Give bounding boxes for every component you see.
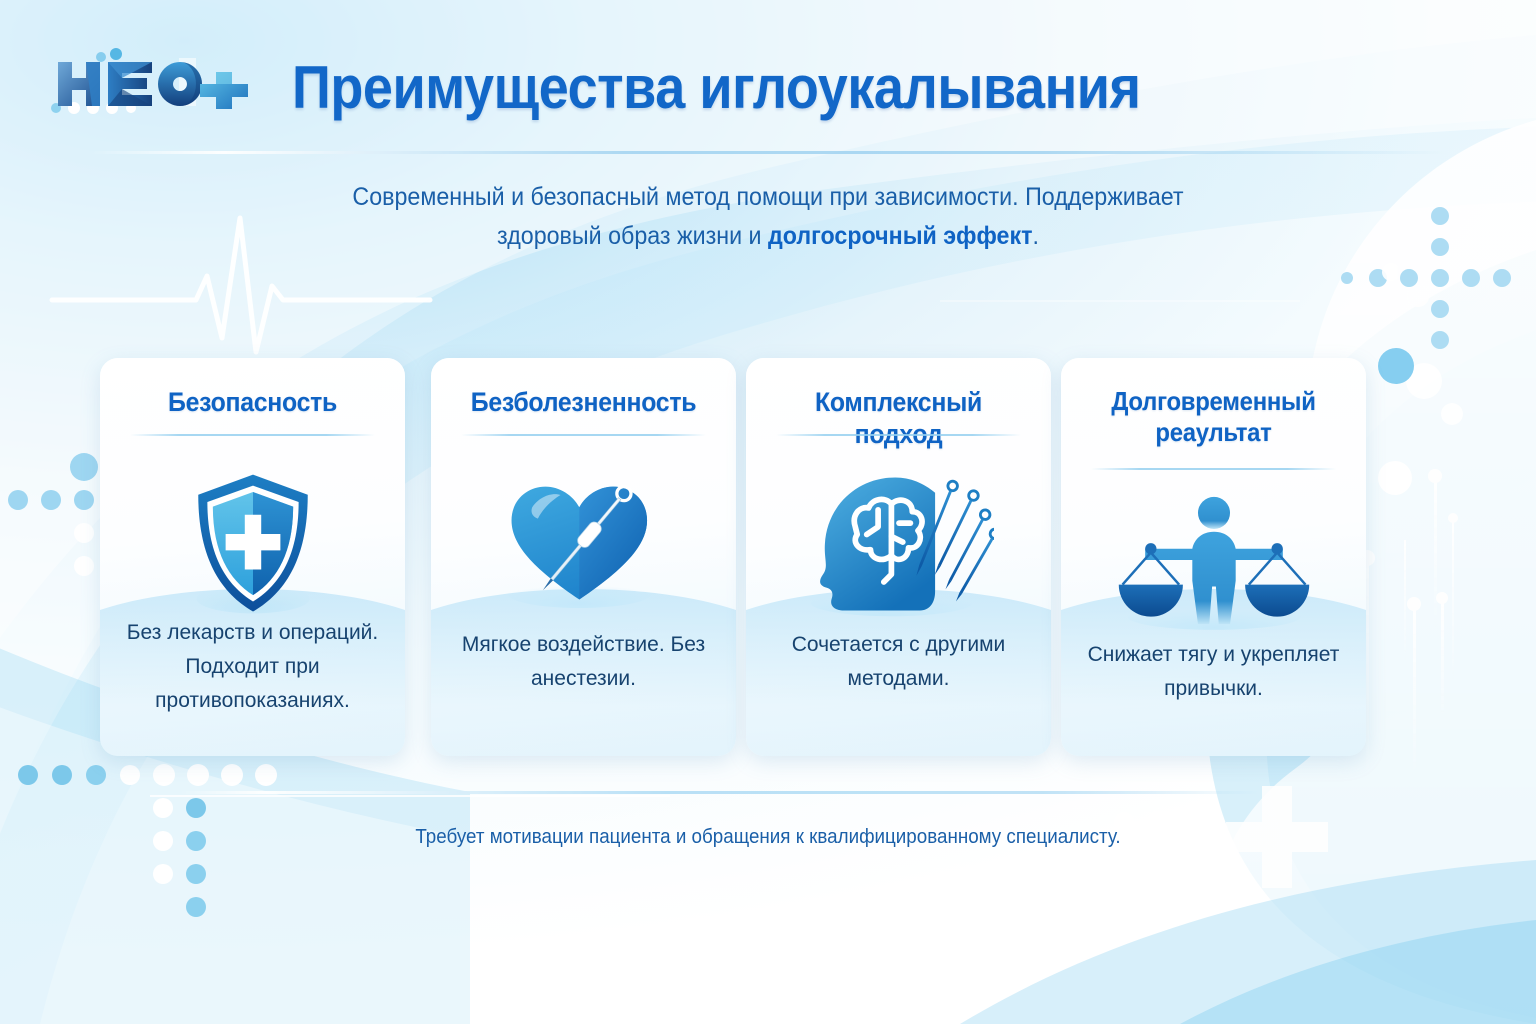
shield-cross-icon xyxy=(100,454,405,634)
infographic-canvas: Преимущества иглоукалывания Современный … xyxy=(0,0,1536,1024)
neo-plus-logo[interactable] xyxy=(48,44,248,116)
card-divider xyxy=(1091,468,1336,470)
balance-scales-person-icon xyxy=(1061,476,1366,646)
card-title: Безболезненность xyxy=(454,386,713,418)
header-divider xyxy=(88,151,1448,154)
head-brain-needles-icon xyxy=(746,454,1051,634)
dot-cross-pattern-right xyxy=(1341,207,1511,349)
benefit-card-safety[interactable]: Безопасность xyxy=(100,358,405,756)
subtitle-line-1: Современный и безопасный метод помощи пр… xyxy=(352,183,1183,211)
benefit-card-painless[interactable]: Безболезненность xyxy=(431,358,736,756)
subtitle-line-2-suffix: . xyxy=(1032,222,1038,250)
card-divider xyxy=(130,434,375,436)
card-description: Снижает тягу и укрепляет привычки. xyxy=(1075,638,1352,706)
footer-note: Требует мотивации пациента и обращения к… xyxy=(46,826,1490,849)
benefit-card-complex-approach[interactable]: Комплексный подход xyxy=(746,358,1051,756)
heart-needle-icon xyxy=(431,454,736,634)
subtitle-highlight: долгосрочный эффект xyxy=(768,222,1033,250)
subtitle-line-2-prefix: здоровый образ жизни и xyxy=(497,222,768,250)
card-description: Без лекарств и операций. Подходит при пр… xyxy=(114,616,391,718)
card-title: Долговременный реаультат xyxy=(1084,386,1343,448)
page-title: Преимущества иглоукалывания xyxy=(292,56,1141,119)
card-divider xyxy=(461,434,706,436)
subtitle: Современный и безопасный метод помощи пр… xyxy=(303,178,1233,256)
card-divider xyxy=(776,434,1021,436)
card-title: Комплексный подход xyxy=(769,386,1028,451)
benefit-card-long-term-result[interactable]: Долговременный реаультат xyxy=(1061,358,1366,756)
card-description: Мягкое воздействие. Без анестезии. xyxy=(445,628,722,696)
header: Преимущества иглоукалывания xyxy=(0,0,1536,152)
card-title: Безопасность xyxy=(123,386,382,418)
footer-divider xyxy=(180,791,1260,794)
card-description: Сочетается с другими методами. xyxy=(760,628,1037,696)
logo-mark-icon xyxy=(48,44,248,116)
benefit-cards-row: Безопасность xyxy=(100,358,1396,758)
